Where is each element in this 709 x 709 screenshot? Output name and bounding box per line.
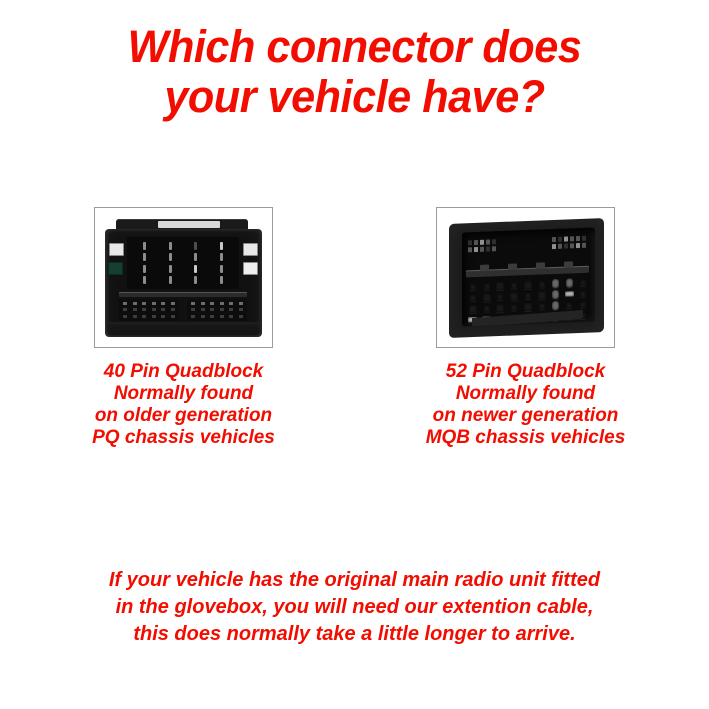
latch-tab-top-left xyxy=(109,243,124,256)
pin-cluster-right xyxy=(552,236,587,250)
connector-option-52-pin[interactable]: 52 Pin Quadblock Normally found on newer… xyxy=(436,207,615,449)
page-title: Which connector does your vehicle have? xyxy=(14,22,695,122)
quadblock-40-illustration xyxy=(105,219,262,337)
connector-photo-52-pin xyxy=(443,215,608,341)
glovebox-radio-note: If your vehicle has the original main ra… xyxy=(0,567,709,648)
latch-tab-bottom-left xyxy=(108,262,123,275)
latch-tab-bottom-right xyxy=(243,262,258,275)
latch-tab-top-right xyxy=(243,243,258,256)
divider-rail xyxy=(119,292,247,297)
cavity-divider-bar xyxy=(466,266,589,278)
lower-pin-banks xyxy=(119,299,247,321)
connector-bottom-lip xyxy=(107,322,260,335)
pin-bank-left xyxy=(119,299,179,321)
connector-photo-frame-40-pin[interactable] xyxy=(94,207,273,348)
pin-cluster-left xyxy=(468,239,497,253)
connector-cavity xyxy=(462,227,595,326)
connector-photo-frame-52-pin[interactable] xyxy=(436,207,615,348)
connector-option-40-pin[interactable]: 40 Pin Quadblock Normally found on older… xyxy=(94,207,273,449)
connector-photo-40-pin xyxy=(101,215,266,341)
upper-pin-block xyxy=(127,237,239,289)
quadblock-52-illustration xyxy=(449,221,604,335)
pin-bank-right xyxy=(187,299,247,321)
connector-body xyxy=(105,229,262,337)
connector-caption-40-pin: 40 Pin Quadblock Normally found on older… xyxy=(24,361,344,449)
connector-options-row: 40 Pin Quadblock Normally found on older… xyxy=(0,207,709,449)
connector-caption-52-pin: 52 Pin Quadblock Normally found on newer… xyxy=(366,361,686,449)
connector-comparison-poster: Which connector does your vehicle have? xyxy=(0,0,709,709)
upper-pin-slot-grid xyxy=(137,241,229,285)
